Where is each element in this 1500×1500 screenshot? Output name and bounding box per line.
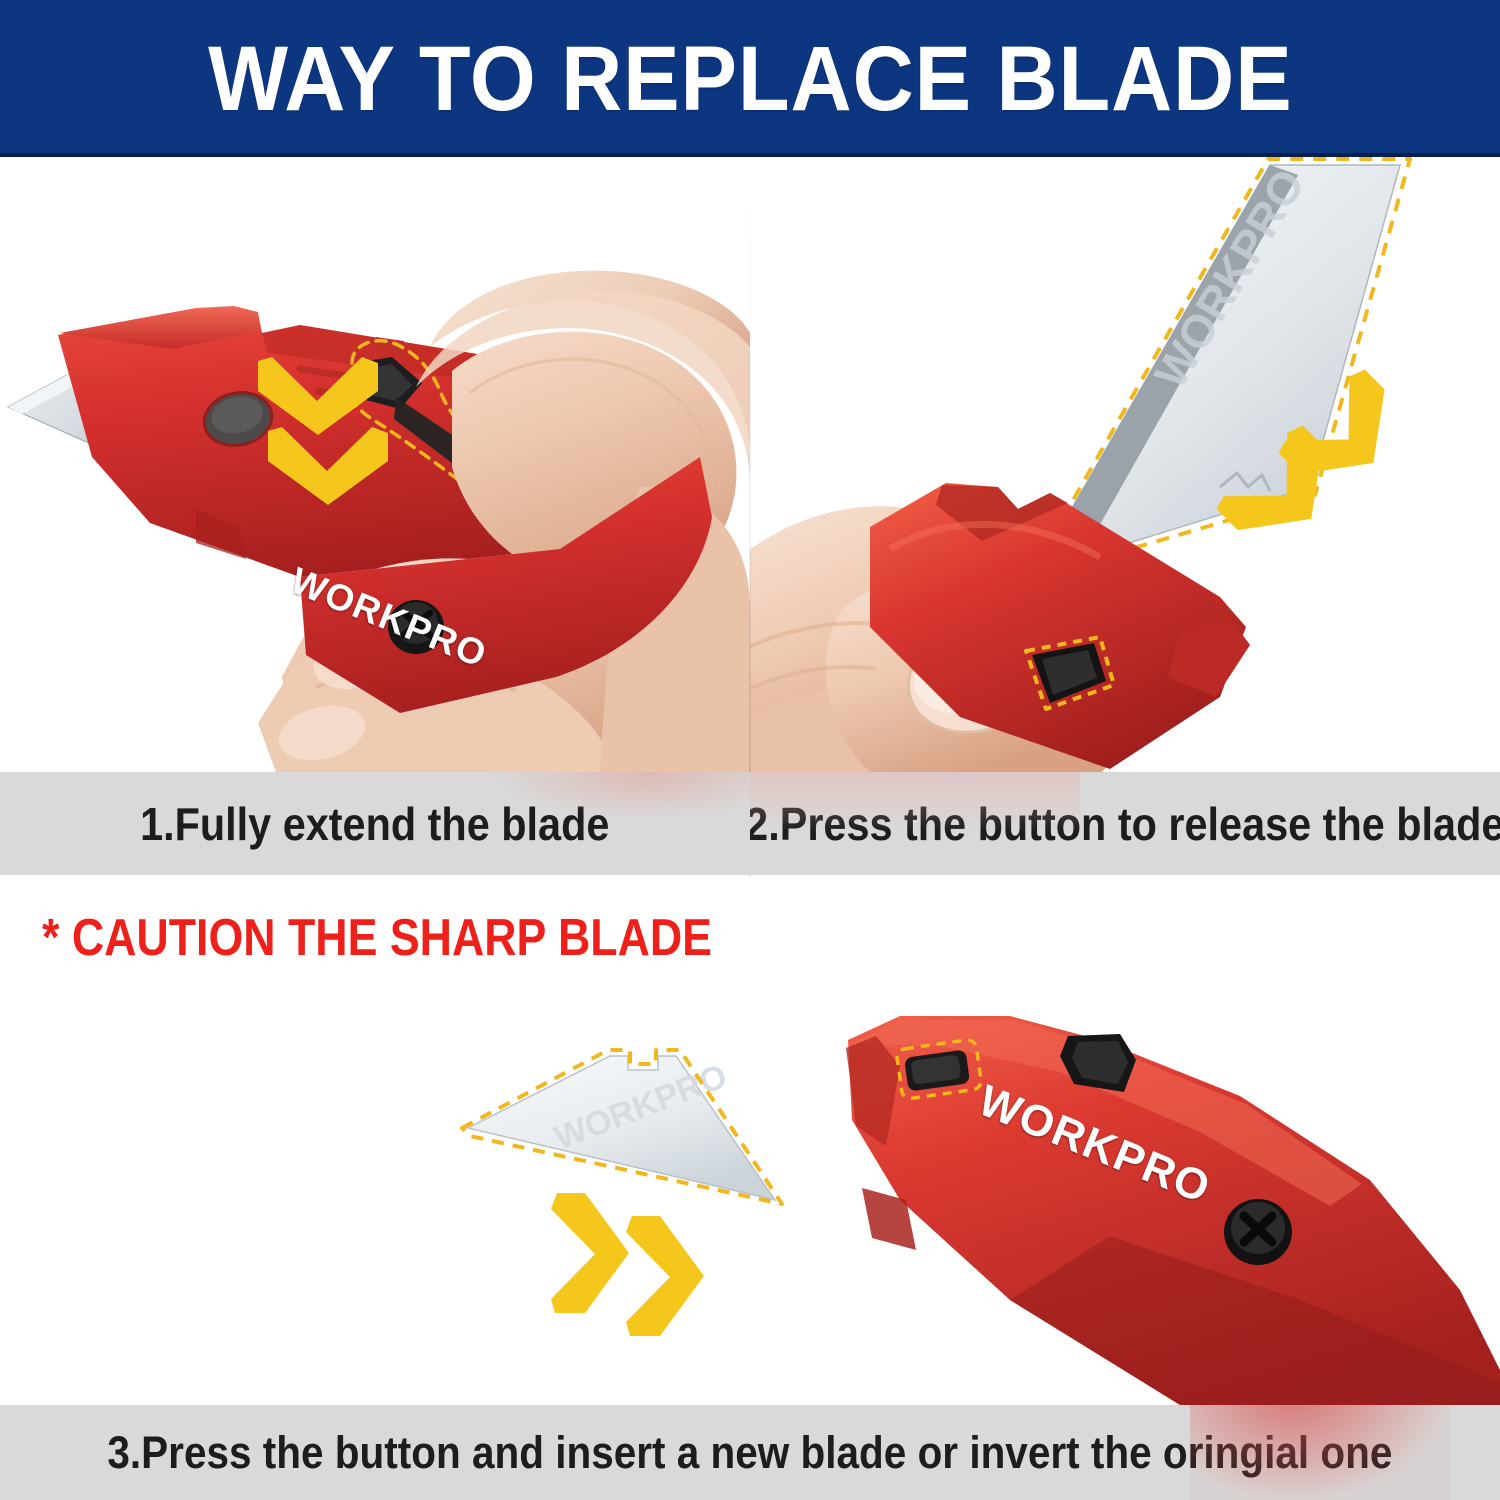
- step-1-photo: WORKPRO: [0, 157, 750, 772]
- step-3-caption-band: 3.Press the button and insert a new blad…: [0, 1405, 1500, 1500]
- step-1-caption: 1.Fully extend the blade: [140, 801, 609, 847]
- panel-divider: [749, 157, 751, 877]
- arrow-right-2: [600, 1238, 730, 1316]
- infographic-page: WAY TO REPLACE BLADE: [0, 0, 1500, 1500]
- arrow-upright-2: [1218, 453, 1348, 531]
- step-2-caption: 2.Press the button to release the blade: [750, 801, 1500, 847]
- handle-screw: [1224, 1199, 1292, 1265]
- step-3-illustration: WORKPRO: [0, 1000, 1500, 1405]
- step-3-caption: 3.Press the button and insert a new blad…: [107, 1430, 1392, 1475]
- arrow-down-1: [252, 357, 382, 435]
- step-2-photo: WORKPRO: [750, 157, 1500, 772]
- arrow-down-2: [262, 427, 392, 505]
- step-1-caption-band: 1.Fully extend the blade: [0, 772, 750, 875]
- caution-text: * CAUTION THE SHARP BLADE: [42, 912, 712, 964]
- step-3-photo: WORKPRO: [0, 1000, 1500, 1405]
- header-banner: WAY TO REPLACE BLADE: [0, 0, 1500, 157]
- page-title: WAY TO REPLACE BLADE: [208, 33, 1292, 125]
- step-2-caption-band: 2.Press the button to release the blade: [750, 772, 1500, 875]
